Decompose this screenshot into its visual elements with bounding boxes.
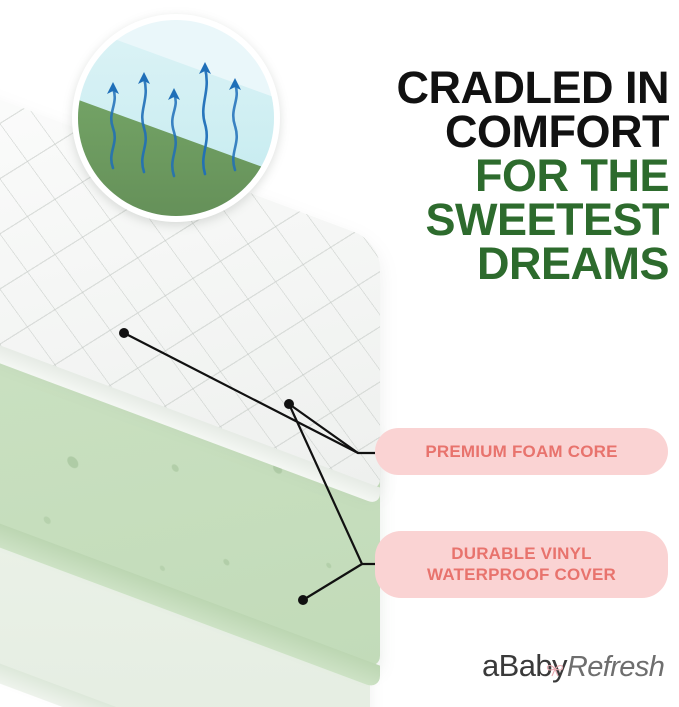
page-title: CRADLED IN COMFORT FOR THE SWEETEST DREA… [324, 66, 669, 286]
brand-logo-text: aBabyRefresh [482, 648, 664, 684]
brand-logo: aBabyRefresh [482, 648, 672, 688]
feature-badge-label-wrap: DURABLE VINYL WATERPROOF COVER [427, 544, 616, 584]
brand-logo-suffix: Refresh [567, 651, 664, 683]
bow-icon [545, 661, 565, 677]
headline-line-3: FOR THE [324, 154, 669, 198]
feature-badge-label-line-2: WATERPROOF COVER [427, 565, 616, 585]
feature-badge-label: PREMIUM FOAM CORE [425, 442, 617, 462]
feature-badge-premium-foam-core: PREMIUM FOAM CORE [375, 428, 668, 475]
feature-badge-durable-vinyl-waterproof-cover: DURABLE VINYL WATERPROOF COVER [375, 531, 668, 598]
headline-line-4: SWEETEST [324, 198, 669, 242]
headline-line-1: CRADLED IN [324, 66, 669, 110]
breathability-badge [72, 14, 280, 222]
feature-badge-label-line-1: DURABLE VINYL [427, 544, 616, 564]
product-infographic: CRADLED IN COMFORT FOR THE SWEETEST DREA… [0, 0, 679, 707]
headline-line-5: DREAMS [324, 242, 669, 286]
breathability-badge-inner [78, 20, 274, 216]
headline-line-2: COMFORT [324, 110, 669, 154]
airflow-arrows-icon [78, 20, 274, 216]
